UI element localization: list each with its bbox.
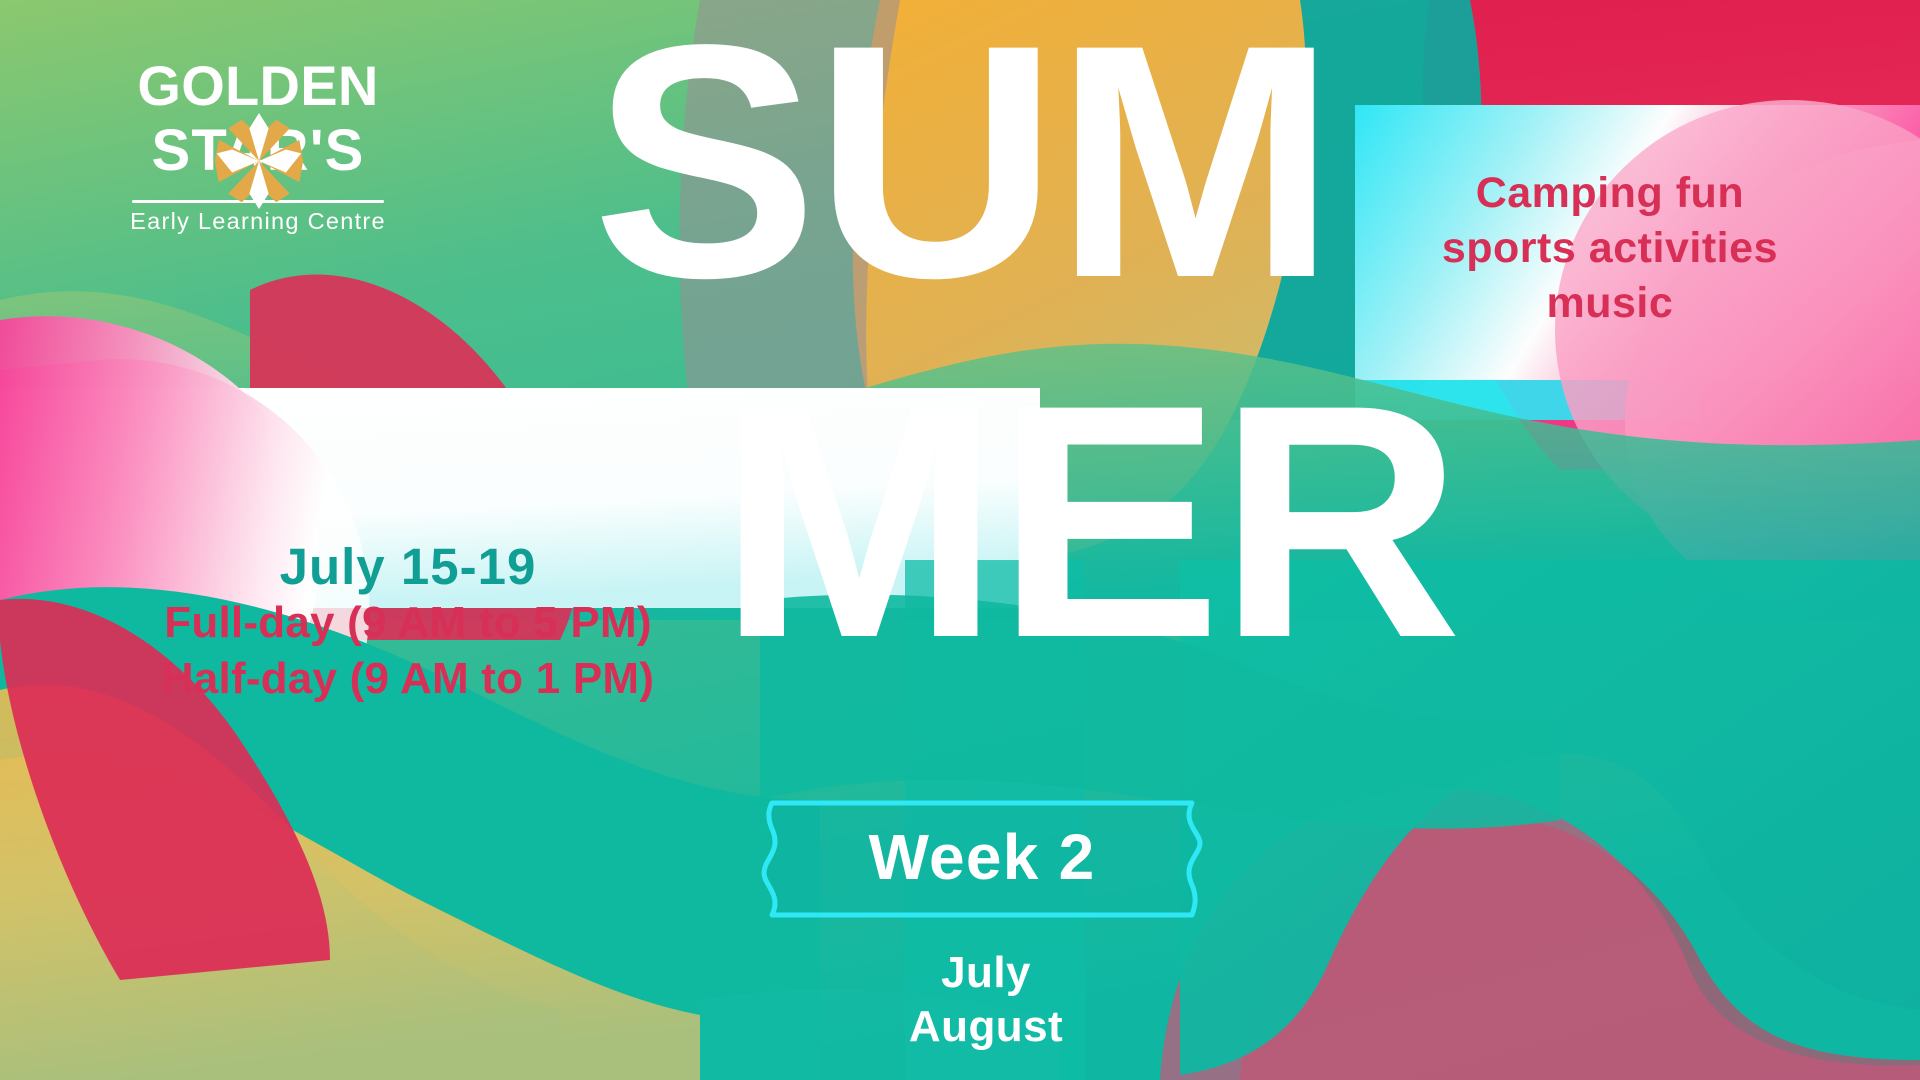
half-day-hours: Half-day (9 AM to 1 PM)	[128, 651, 688, 707]
schedule-block: July 15-19 Full-day (9 AM to 5 PM) Half-…	[128, 538, 688, 707]
summer-camp-poster: SUM MER GOLDEN STAR'S E	[0, 0, 1920, 1080]
six-point-star-icon	[211, 113, 307, 209]
date-range: July 15-19	[128, 538, 688, 595]
activity-line-1: Camping fun	[1442, 166, 1778, 221]
full-day-hours: Full-day (9 AM to 5 PM)	[128, 595, 688, 651]
month-line-1: July	[836, 946, 1136, 1000]
logo-word-bottom-row: STAR'S	[108, 122, 408, 196]
months-block: July August	[836, 946, 1136, 1053]
month-line-2: August	[836, 1000, 1136, 1054]
logo-tagline: Early Learning Centre	[108, 208, 408, 235]
activity-line-3: music	[1442, 276, 1778, 331]
brand-logo: GOLDEN STAR'S Early Learning Centre	[108, 58, 408, 235]
week-badge: Week 2	[754, 797, 1210, 921]
activities-list: Camping fun sports activities music	[1442, 166, 1778, 331]
logo-word-golden: GOLDEN	[108, 58, 408, 114]
activity-line-2: sports activities	[1442, 221, 1778, 276]
week-badge-label: Week 2	[754, 797, 1210, 921]
